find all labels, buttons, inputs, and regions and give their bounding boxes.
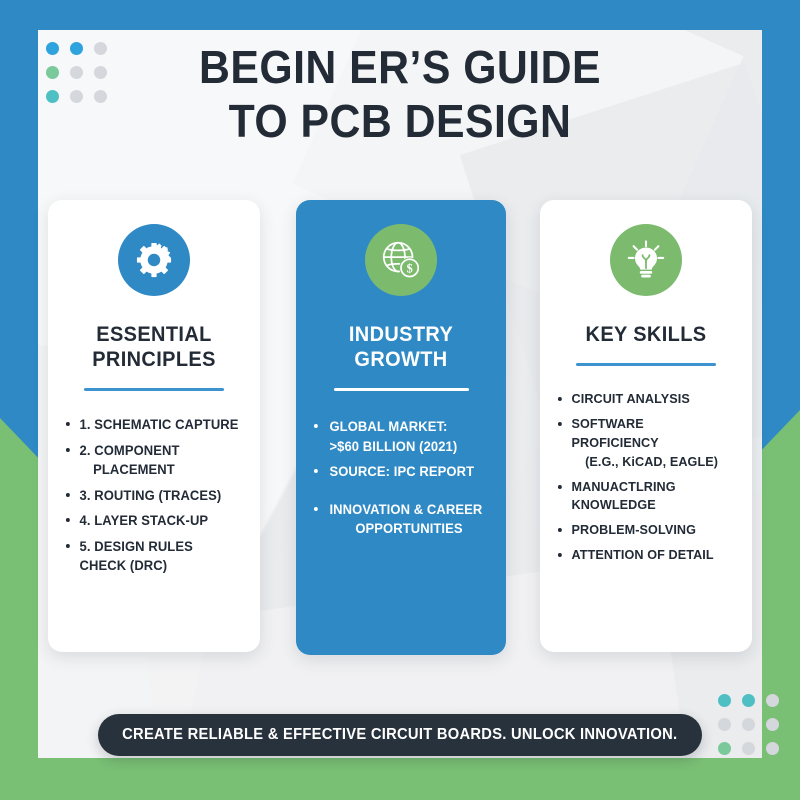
card-title-line-2: GROWTH xyxy=(354,348,447,371)
frame-accent-green-bottom xyxy=(0,756,800,800)
bullet-item: ATTENTION OF DETAIL xyxy=(556,546,731,565)
bullet-item: 4. LAYER STACK-UP xyxy=(64,511,239,530)
bullet-item: CIRCUIT ANALYSIS xyxy=(556,390,731,409)
bullet-item: >$60 BILLION (2021) xyxy=(312,437,485,456)
card-title-line-2: PRINCIPLES xyxy=(92,348,216,371)
bullet-item: 5. DESIGN RULES CHECK (DRC) xyxy=(64,537,239,576)
decorative-dot-7 xyxy=(742,742,755,755)
bullet-item: GLOBAL MARKET: xyxy=(312,417,485,436)
decorative-dot-2 xyxy=(766,694,779,707)
decorative-dot-5 xyxy=(766,718,779,731)
bullet-item: OPPORTUNITIES xyxy=(312,519,485,538)
bullet-item: PROBLEM-SOLVING xyxy=(556,521,731,540)
card-title-line-1: ESSENTIAL xyxy=(96,323,211,346)
decorative-dot-1 xyxy=(742,694,755,707)
card-row: ESSENTIAL PRINCIPLES 1. SCHEMATIC CAPTUR… xyxy=(0,200,800,655)
bullet-list-key-skills: CIRCUIT ANALYSISSOFTWARE PROFICIENCY(E.G… xyxy=(556,390,736,565)
svg-text:$: $ xyxy=(407,262,413,276)
decorative-dot-8 xyxy=(766,742,779,755)
card-essential-principles[interactable]: ESSENTIAL PRINCIPLES 1. SCHEMATIC CAPTUR… xyxy=(48,200,260,652)
page-title: BEGIN ER’S GUIDE TO PCB DESIGN xyxy=(28,40,772,149)
decorative-dot-6 xyxy=(718,742,731,755)
page-title-line-1: BEGIN ER’S GUIDE xyxy=(199,41,601,93)
card-title: ESSENTIAL PRINCIPLES xyxy=(65,322,244,372)
bullet-item: 3. ROUTING (TRACES) xyxy=(64,486,239,505)
bullet-item: SOURCE: IPC REPORT xyxy=(312,462,485,481)
bullet-item: SOFTWARE PROFICIENCY xyxy=(556,415,731,453)
bullet-item: INNOVATION & CAREER xyxy=(312,500,485,519)
card-industry-growth[interactable]: $ INDUSTRY GROWTH GLOBAL MARKET:>$60 BIL… xyxy=(296,200,506,655)
bullet-item: PLACEMENT xyxy=(64,460,239,479)
bullet-list-essential-principles: 1. SCHEMATIC CAPTURE2. COMPONENTPLACEMEN… xyxy=(64,415,244,575)
bullet-item: 1. SCHEMATIC CAPTURE xyxy=(64,415,239,434)
card-title: INDUSTRY GROWTH xyxy=(313,322,490,372)
title-underline xyxy=(334,388,469,391)
decorative-dot-4 xyxy=(742,718,755,731)
infographic-poster: BEGIN ER’S GUIDE TO PCB DESIGN xyxy=(0,0,800,800)
globe-dollar-icon: $ xyxy=(365,224,437,296)
bullet-item: (E.G., KiCAD, EAGLE) xyxy=(556,453,731,472)
bullet-item: 2. COMPONENT xyxy=(64,441,239,460)
bullet-list-industry-growth: GLOBAL MARKET:>$60 BILLION (2021)SOURCE:… xyxy=(312,417,490,538)
footer-banner-text: CREATE RELIABLE & EFFECTIVE CIRCUIT BOAR… xyxy=(122,726,677,744)
dot-grid-bottom-right xyxy=(718,694,779,755)
card-title: KEY SKILLS xyxy=(557,322,736,347)
card-title-line-1: INDUSTRY xyxy=(349,323,453,346)
title-underline xyxy=(84,388,224,391)
card-key-skills[interactable]: KEY SKILLS CIRCUIT ANALYSISSOFTWARE PROF… xyxy=(540,200,752,652)
page-title-line-2: TO PCB DESIGN xyxy=(28,94,772,148)
footer-banner[interactable]: CREATE RELIABLE & EFFECTIVE CIRCUIT BOAR… xyxy=(98,714,702,756)
decorative-dot-3 xyxy=(718,718,731,731)
card-title-line-1: KEY SKILLS xyxy=(586,323,707,346)
gear-icon xyxy=(118,224,190,296)
title-underline xyxy=(576,363,716,366)
lightbulb-icon xyxy=(610,224,682,296)
bullet-item: MANUACTLRING KNOWLEDGE xyxy=(556,478,731,516)
decorative-dot-0 xyxy=(718,694,731,707)
